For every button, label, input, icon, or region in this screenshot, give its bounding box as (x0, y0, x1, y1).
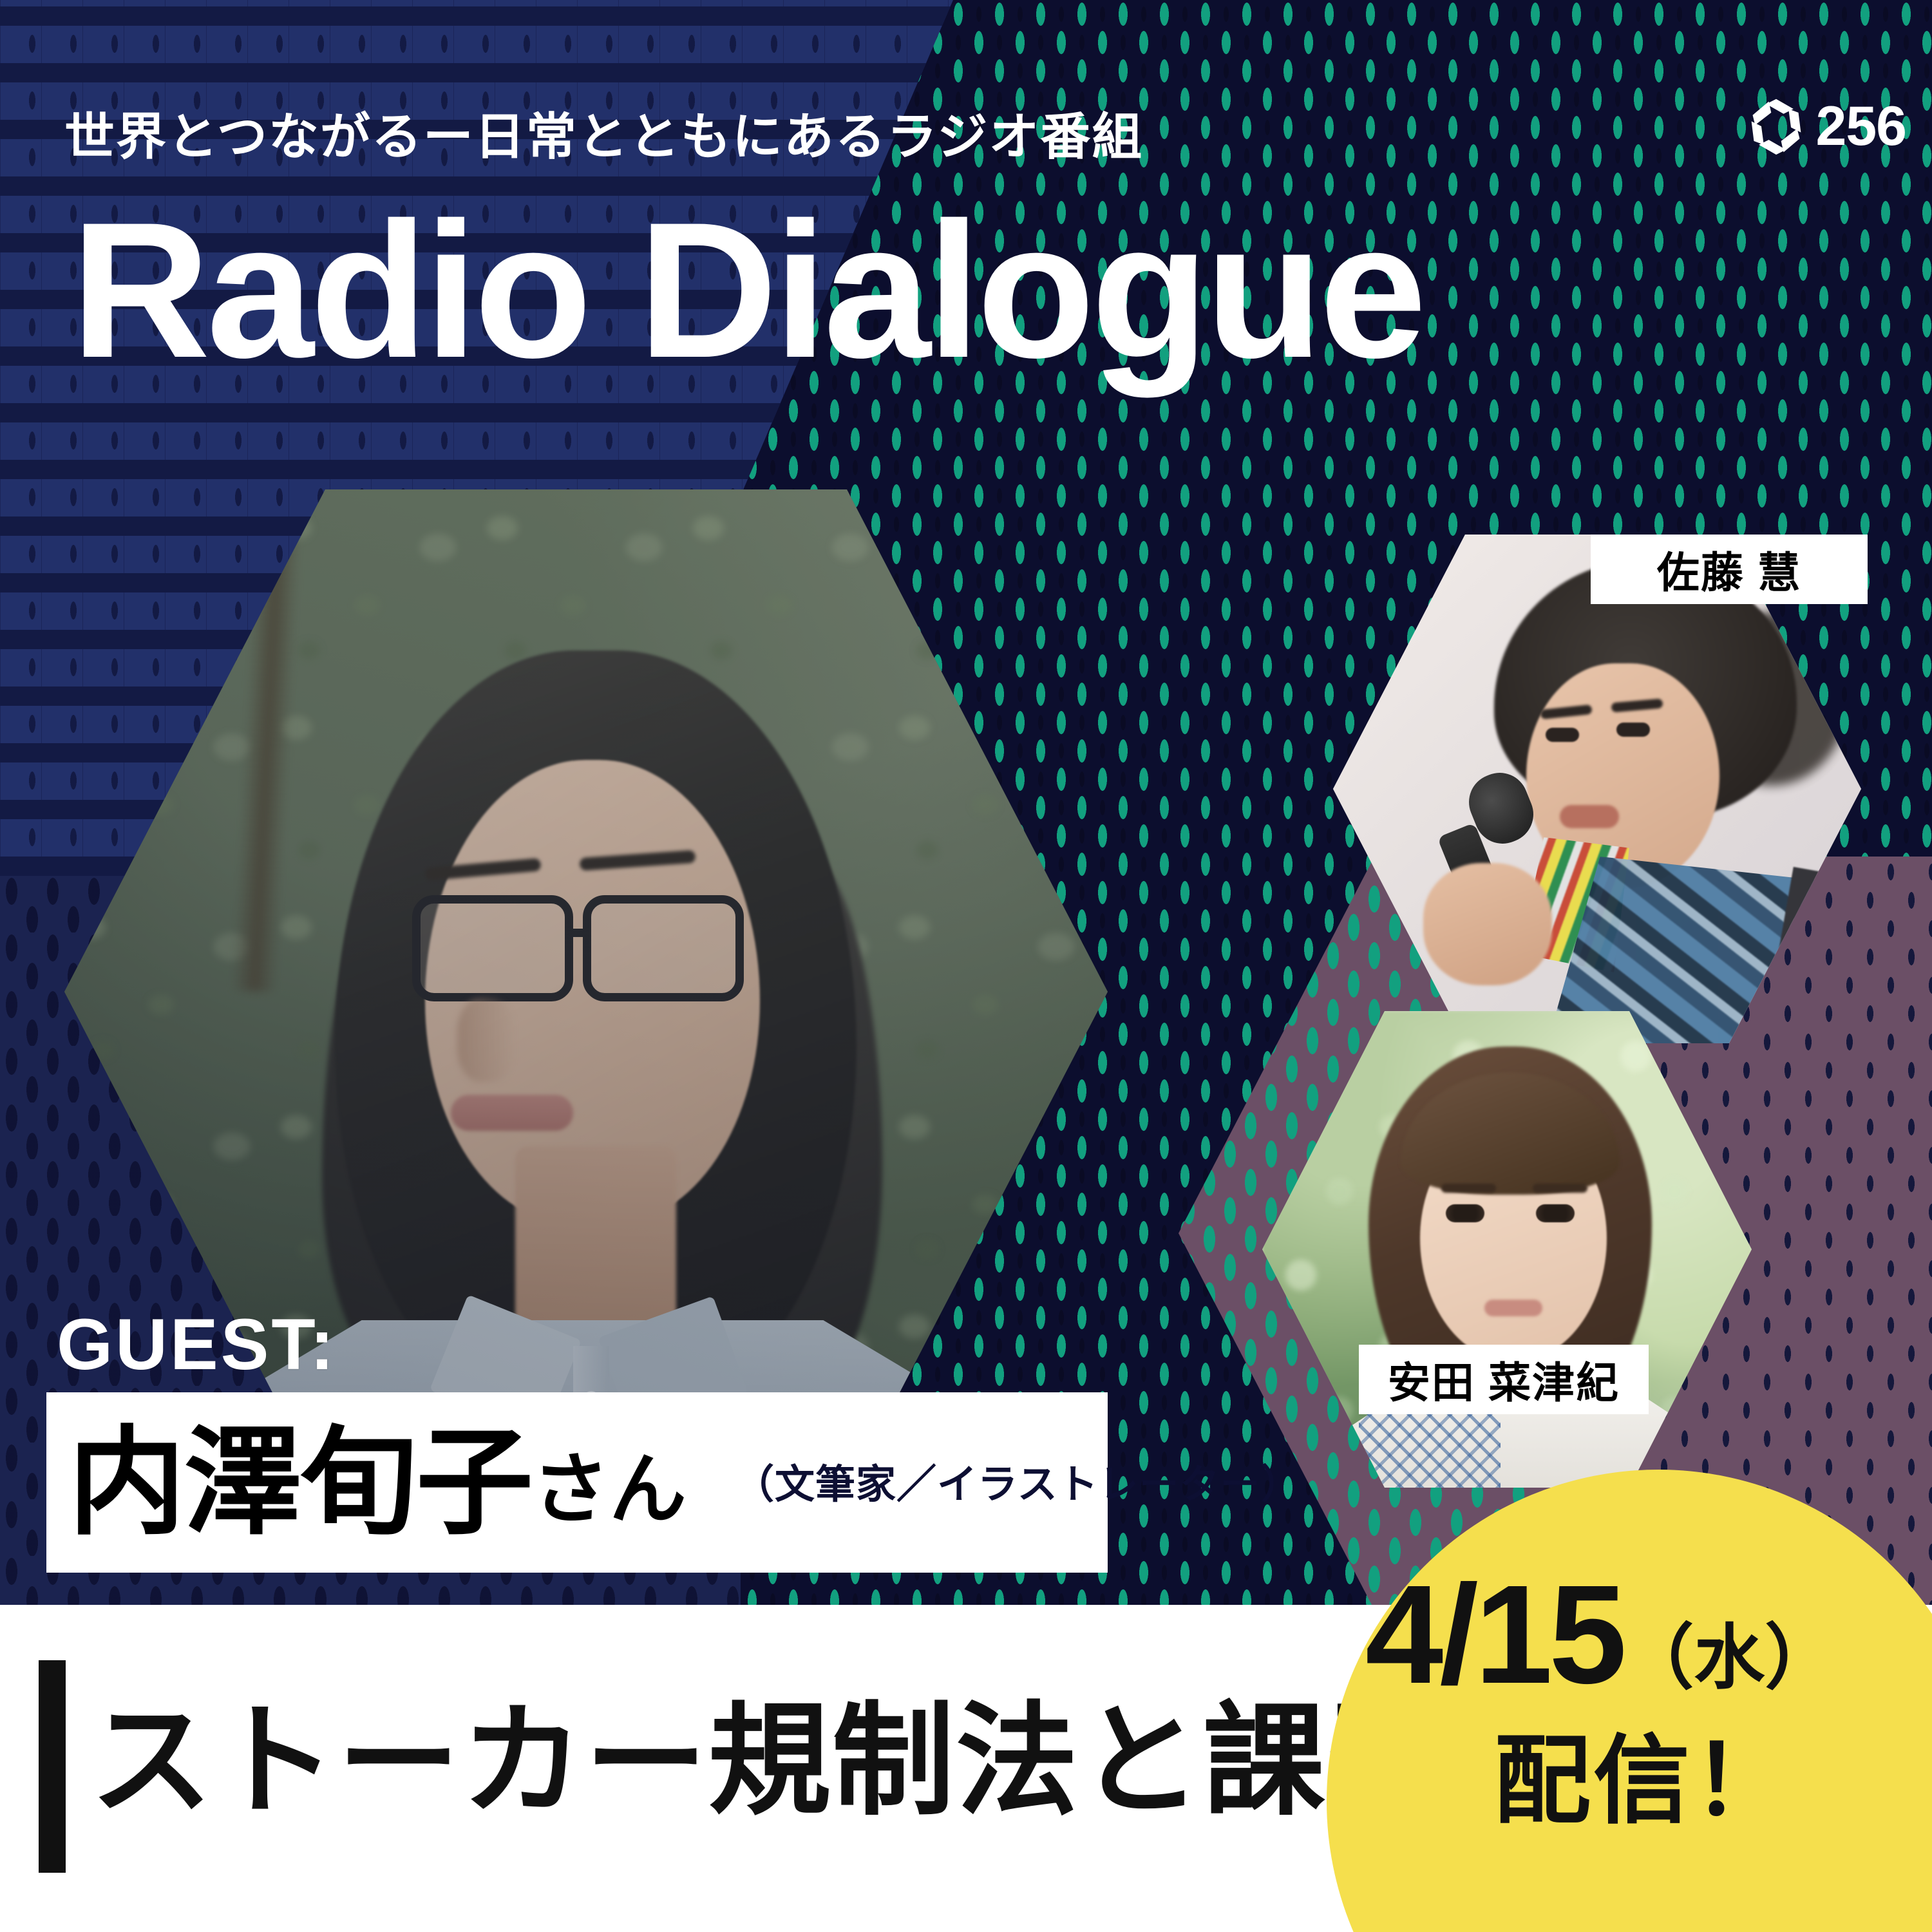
broadcast-day-of-week: （水） (1623, 1623, 1835, 1705)
episode-title: ストーカー規制法と課題 (90, 1700, 1450, 1823)
host2-eye-right (1536, 1204, 1575, 1222)
program-tagline: 世界とつながるー日常とともにあるラジオ番組 (64, 97, 1143, 169)
broadcast-date-number: 4/15 (1365, 1565, 1623, 1705)
host1-hand (1423, 863, 1552, 985)
guest-name: 内澤旬子 (68, 1424, 532, 1541)
broadcast-status: 配信！ (1494, 1732, 1792, 1829)
host2-eyebrow-right (1533, 1184, 1587, 1193)
guest-role: （文筆家／イラストレーター） (734, 1452, 1302, 1510)
host1-mouth (1560, 805, 1619, 828)
episode-accent-bar (39, 1660, 66, 1873)
guest-honorific: さん (532, 1426, 687, 1539)
host-name-tag-sato: 佐藤 慧 (1591, 535, 1868, 604)
host1-eye-left (1546, 728, 1579, 742)
guest-label: GUEST: (57, 1309, 337, 1381)
brand-number: 256 (1816, 99, 1907, 154)
host-name-tag-yasuda: 安田 菜津紀 (1359, 1345, 1649, 1414)
host2-eyebrow-left (1441, 1184, 1496, 1193)
brand-logo: 256 (1745, 95, 1907, 157)
aperture-icon (1745, 95, 1807, 157)
page-title: Radio Dialogue (71, 193, 1423, 386)
host2-eye-left (1446, 1204, 1484, 1222)
poster-canvas: 世界とつながるー日常とともにあるラジオ番組 256 Radio Dialogue (0, 0, 1932, 1932)
host1-eye-right (1616, 723, 1650, 737)
broadcast-date: 4/15 （水） (1365, 1565, 1932, 1705)
host2-mouth (1484, 1300, 1542, 1316)
